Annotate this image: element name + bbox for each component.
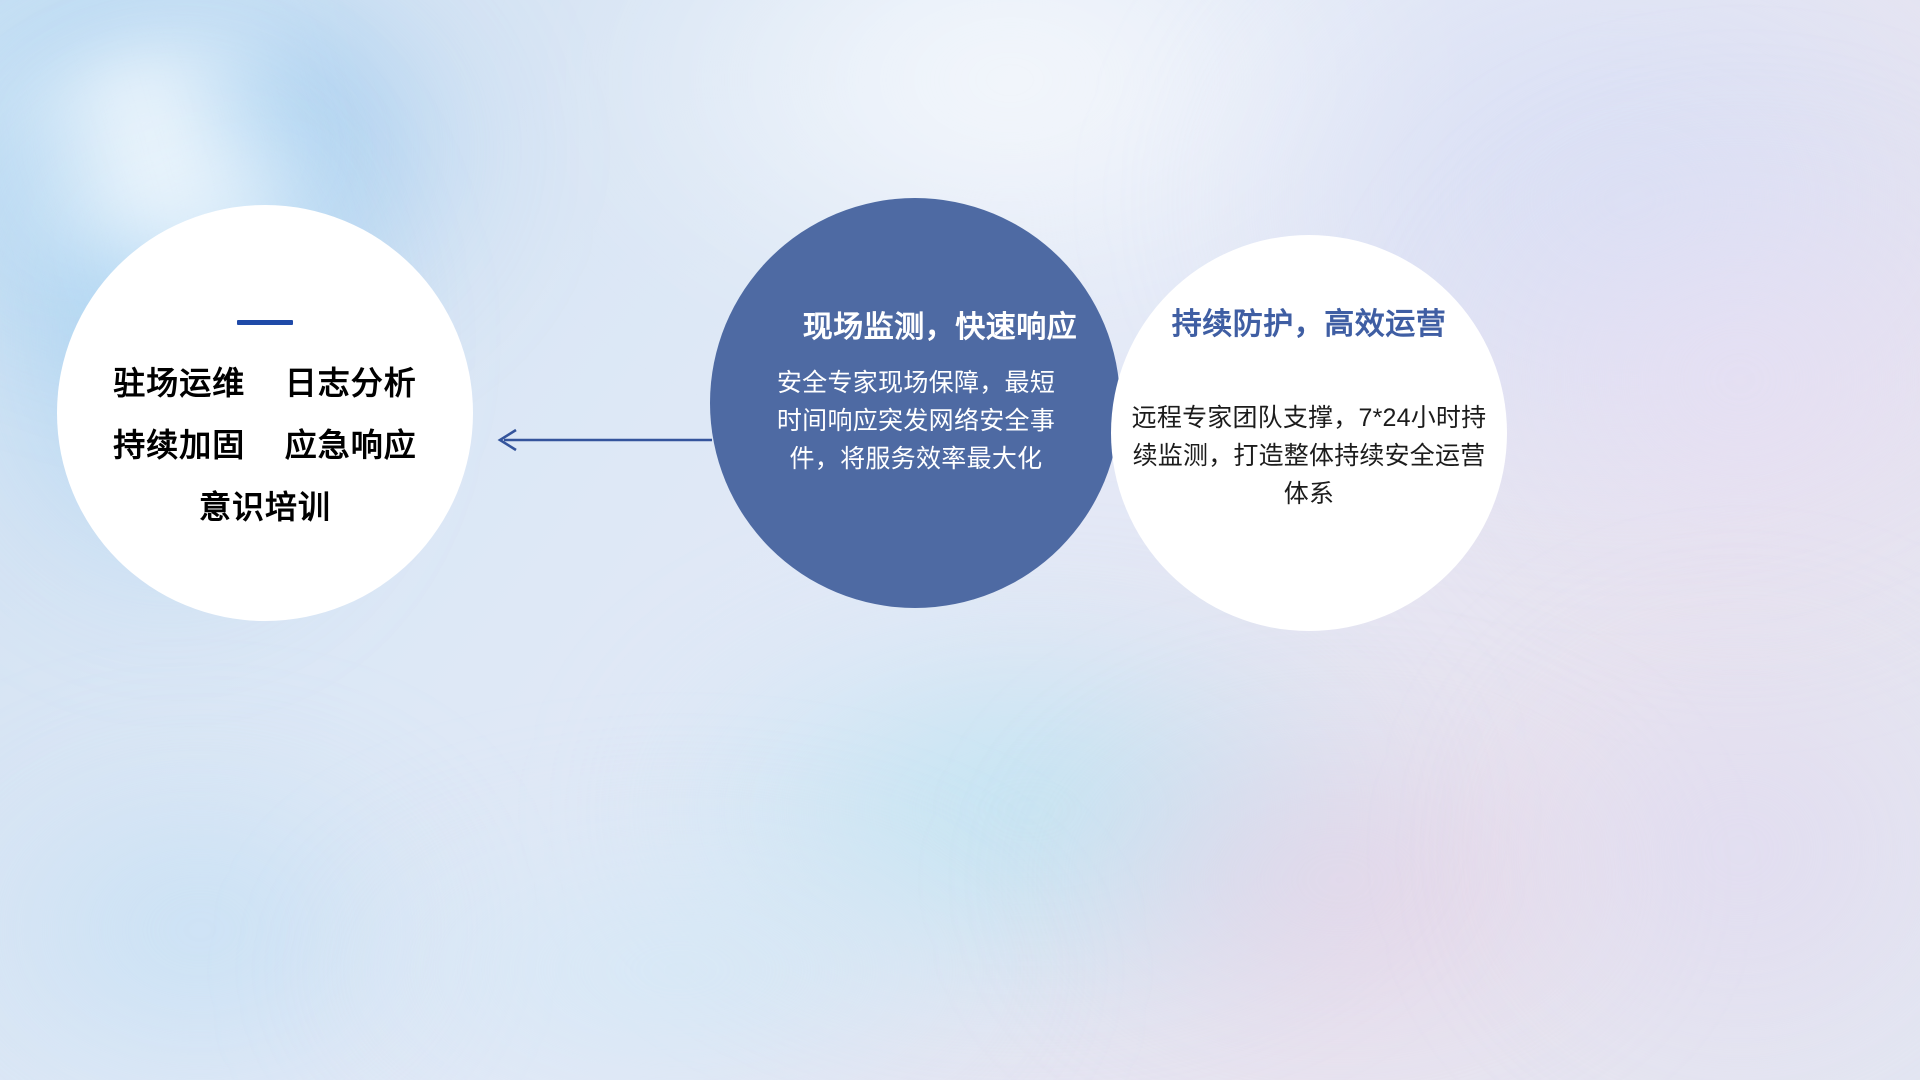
middle-circle-body: 安全专家现场保障，最短时间响应突发网络安全事件，将服务效率最大化 bbox=[766, 364, 1066, 478]
left-arrow-icon bbox=[490, 420, 715, 460]
capability-circle-middle[interactable]: 现场监测，快速响应 安全专家现场保障，最短时间响应突发网络安全事件，将服务效率最… bbox=[710, 198, 1120, 608]
slide-canvas: 驻场运维 日志分析 持续加固 应急响应 意识培训 现场监测，快速响应 安全专家现… bbox=[0, 0, 1920, 1080]
dash-divider-icon bbox=[237, 320, 293, 325]
capability-circle-left[interactable]: 驻场运维 日志分析 持续加固 应急响应 意识培训 bbox=[57, 205, 473, 621]
capability-line-3: 意识培训 bbox=[113, 491, 417, 523]
capability-line-1: 驻场运维 日志分析 bbox=[113, 367, 417, 399]
capability-line-2: 持续加固 应急响应 bbox=[113, 429, 417, 461]
middle-circle-title: 现场监测，快速响应 bbox=[760, 302, 1120, 346]
capability-list: 驻场运维 日志分析 持续加固 应急响应 意识培训 bbox=[113, 367, 417, 523]
right-circle-body: 远程专家团队支撑，7*24小时持续监测，打造整体持续安全运营体系 bbox=[1123, 399, 1495, 513]
capability-circle-right[interactable]: 持续防护，高效运营 远程专家团队支撑，7*24小时持续监测，打造整体持续安全运营… bbox=[1111, 235, 1507, 631]
right-circle-title: 持续防护，高效运营 bbox=[1139, 299, 1479, 343]
